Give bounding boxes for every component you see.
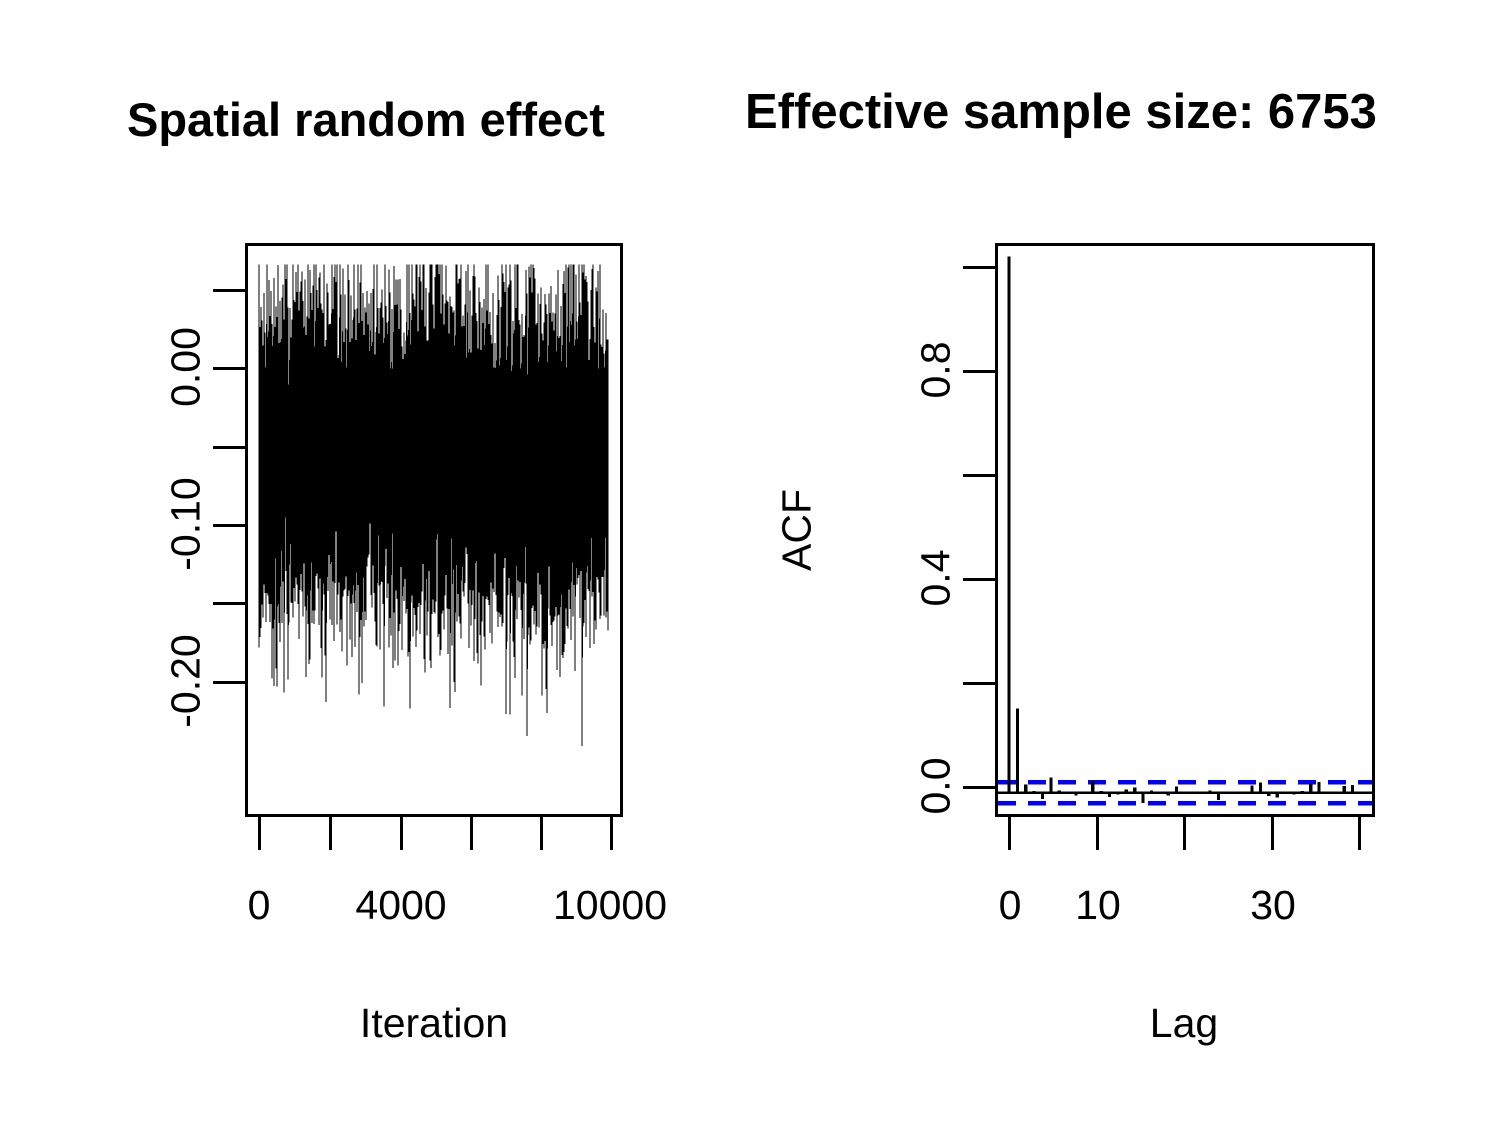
acf-ytick-0.4 (963, 578, 996, 581)
trace-xtick-2000 (329, 817, 332, 850)
trace-plot-frame (245, 243, 623, 817)
acf-xtick-10 (1096, 817, 1099, 850)
acf-ylabel-0.4: 0.4 (916, 550, 957, 607)
trace-ytick--0.15 (213, 602, 246, 605)
acf-plot-title: Effective sample size: 6753 (745, 88, 1377, 137)
acf-yaxis-title: ACF (777, 489, 818, 571)
acf-xtick-20 (1183, 817, 1186, 850)
trace-xtick-10000 (610, 817, 613, 850)
acf-ylabel-0.8: 0.8 (916, 342, 957, 399)
trace-xtick-4000 (400, 817, 403, 850)
acf-xlabel-30: 30 (1250, 885, 1296, 926)
acf-xtick-0 (1008, 817, 1011, 850)
trace-xaxis-title: Iteration (360, 1003, 508, 1044)
acf-plot-frame (995, 243, 1375, 817)
acf-xlabel-0: 0 (999, 885, 1022, 926)
acf-xaxis-title: Lag (1150, 1003, 1218, 1044)
trace-xlabel-4000: 4000 (355, 885, 446, 926)
trace-ytick--0.05 (213, 446, 246, 449)
acf-xtick-40 (1358, 817, 1361, 850)
trace-xtick-6000 (470, 817, 473, 850)
trace-ylabel--0.20: -0.20 (166, 634, 207, 727)
acf-ytick-0.2 (963, 682, 996, 685)
acf-ylabel-0.0: 0.0 (916, 758, 957, 815)
acf-ytick-0.6 (963, 474, 996, 477)
trace-plot-title: Spatial random effect (127, 96, 605, 143)
trace-ytick--0.10 (213, 524, 246, 527)
trace-ytick--0.20 (213, 681, 246, 684)
acf-ytick-0.8 (963, 370, 996, 373)
trace-xtick-8000 (540, 817, 543, 850)
trace-ytick-0.00 (213, 367, 246, 370)
trace-ylabel-0.00: 0.00 (166, 327, 207, 407)
acf-ytick-1.0 (963, 266, 996, 269)
figure-canvas: Spatial random effect Effective sample s… (0, 0, 1500, 1125)
trace-xlabel-10000: 10000 (553, 885, 667, 926)
trace-ylabel--0.10: -0.10 (166, 477, 207, 570)
trace-xlabel-0: 0 (248, 885, 271, 926)
acf-ytick-0.0 (963, 786, 996, 789)
trace-xtick-0 (258, 817, 261, 850)
acf-xlabel-10: 10 (1075, 885, 1121, 926)
trace-ytick-0.05 (213, 289, 246, 292)
acf-xtick-30 (1271, 817, 1274, 850)
